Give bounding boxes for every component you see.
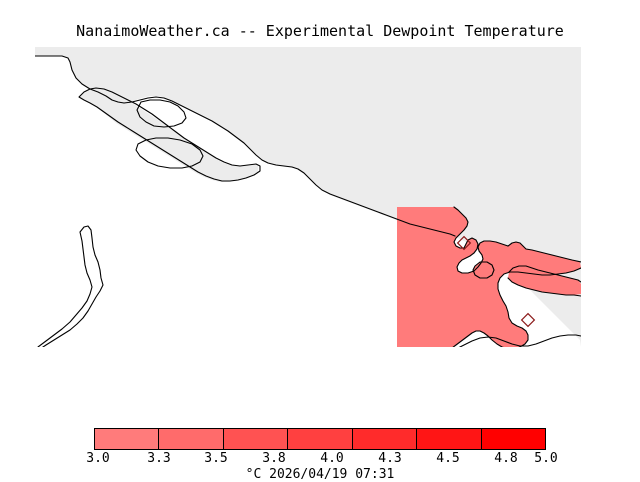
colorbar-tick-labels: 3.0 3.3 3.5 3.8 4.0 4.3 4.5 4.8 5.0	[0, 451, 640, 467]
weather-map-page: NanaimoWeather.ca -- Experimental Dewpoi…	[0, 0, 640, 480]
colorbar-segment	[417, 429, 481, 449]
colorbar-tick: 4.0	[320, 451, 343, 466]
colorbar-panel: 3.0 3.3 3.5 3.8 4.0 4.3 4.5 4.8 5.0 °C 2…	[0, 422, 640, 480]
colorbar-segment	[288, 429, 352, 449]
colorbar-tick: 3.3	[147, 451, 170, 466]
colorbar-segment	[95, 429, 159, 449]
map-svg	[0, 44, 640, 354]
colorbar-segment	[353, 429, 417, 449]
page-title: NanaimoWeather.ca -- Experimental Dewpoi…	[0, 22, 640, 40]
colorbar-tick: 5.0	[534, 451, 557, 466]
colorbar-track	[94, 428, 546, 450]
colorbar-segment	[224, 429, 288, 449]
colorbar-tick: 4.8	[494, 451, 517, 466]
colorbar-tick: 4.5	[436, 451, 459, 466]
colorbar-segment	[482, 429, 545, 449]
colorbar-tick: 3.5	[204, 451, 227, 466]
colorbar-tick: 3.0	[86, 451, 109, 466]
map-panel	[0, 44, 640, 354]
colorbar-tick: 3.8	[262, 451, 285, 466]
colorbar-segment	[159, 429, 223, 449]
colorbar-tick: 4.3	[378, 451, 401, 466]
